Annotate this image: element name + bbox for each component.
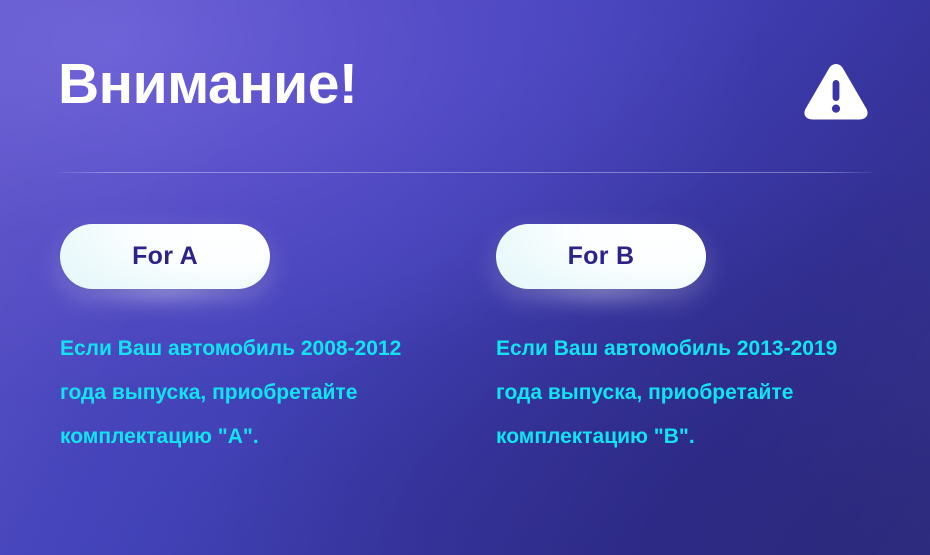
page-title: Внимание! bbox=[58, 56, 357, 113]
for-a-button[interactable]: For A bbox=[60, 224, 270, 289]
option-a-description: Если Ваш автомобиль 2008-2012 года выпус… bbox=[60, 327, 445, 459]
attention-banner: Внимание! For A Если Ваш автомобиль 2008… bbox=[0, 0, 930, 555]
header-divider bbox=[58, 172, 872, 173]
option-b-description: Если Ваш автомобиль 2013-2019 года выпус… bbox=[496, 327, 881, 459]
pill-wrap-a: For A bbox=[60, 224, 270, 289]
warning-triangle-icon bbox=[800, 56, 872, 128]
for-b-button[interactable]: For B bbox=[496, 224, 706, 289]
option-column-a: For A Если Ваш автомобиль 2008-2012 года… bbox=[60, 224, 460, 459]
pill-wrap-b: For B bbox=[496, 224, 706, 289]
option-column-b: For B Если Ваш автомобиль 2013-2019 года… bbox=[496, 224, 896, 459]
